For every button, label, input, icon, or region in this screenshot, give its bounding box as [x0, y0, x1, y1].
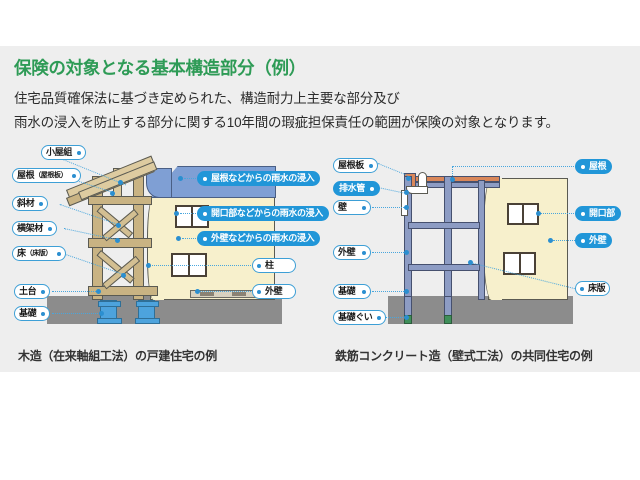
- leader-node: [406, 176, 411, 181]
- wall-cut-edge-rc: [483, 178, 502, 300]
- label-wall-rainwater[interactable]: 外壁などからの雨水の浸入: [197, 231, 320, 246]
- label-kiso[interactable]: 基礎: [14, 306, 50, 321]
- leader-node: [99, 311, 104, 316]
- label-gaiheki-left[interactable]: 外壁: [252, 284, 296, 299]
- post-column: [133, 172, 144, 300]
- leader-node: [536, 211, 541, 216]
- leader-node: [404, 289, 409, 294]
- label-yaneita[interactable]: 屋根板: [333, 158, 378, 173]
- leader-node: [110, 191, 115, 196]
- label-yuka[interactable]: 床（床版）: [12, 246, 66, 261]
- leader-line: [372, 207, 408, 208]
- leader-node: [116, 223, 121, 228]
- wall-cut-edge: [147, 196, 164, 300]
- label-kabe[interactable]: 壁: [333, 200, 371, 215]
- leader-line: [540, 213, 574, 214]
- label-yane[interactable]: 屋根（屋根板）: [12, 168, 81, 183]
- leader-line: [372, 291, 408, 292]
- label-roof-rainwater[interactable]: 屋根などからの雨水の浸入: [197, 171, 320, 186]
- page-title: 保険の対象となる基本構造部分（例）: [14, 55, 306, 80]
- leader-node: [404, 190, 409, 195]
- figure-page: 保険の対象となる基本構造部分（例） 住宅品質確保法に基づき定められた、構造耐力上…: [0, 0, 640, 480]
- window-upper-rc: [507, 203, 539, 225]
- label-dodai[interactable]: 土台: [14, 284, 50, 299]
- floor-slab: [408, 222, 480, 229]
- leader-node: [548, 238, 553, 243]
- leader-node: [195, 289, 200, 294]
- label-koyagumi[interactable]: 小屋組: [41, 145, 86, 160]
- leader-line: [52, 313, 102, 314]
- vent: [232, 292, 246, 296]
- lead-text-line-2: 雨水の浸入を防止する部分に関する10年間の瑕疵担保責任の範囲が保険の対象となりま…: [14, 111, 559, 131]
- foundation-pier: [138, 300, 155, 324]
- leader-node: [178, 176, 183, 181]
- leader-node: [450, 177, 455, 182]
- vent: [200, 292, 214, 296]
- horizontal-beam: [88, 238, 152, 248]
- label-opening-rainwater[interactable]: 開口部などからの雨水の浸入: [197, 206, 329, 221]
- label-haisuikan[interactable]: 排水管: [333, 181, 380, 196]
- label-gaiheki-right[interactable]: 外壁: [575, 233, 612, 248]
- label-oukazai[interactable]: 横架材: [12, 221, 57, 236]
- leader-line: [553, 240, 575, 241]
- label-kaikoubu[interactable]: 開口部: [575, 206, 621, 221]
- label-shouban[interactable]: 床版: [575, 281, 610, 296]
- leader-node: [176, 236, 181, 241]
- ground-right: [388, 296, 573, 324]
- caption-wood-house: 木造（在来軸組工法）の戸建住宅の例: [18, 347, 217, 364]
- label-kiso-rc[interactable]: 基礎: [333, 284, 371, 299]
- leader-node: [96, 289, 101, 294]
- label-yane-rc[interactable]: 屋根: [575, 159, 612, 174]
- rc-column: [444, 176, 452, 300]
- ground-left: [47, 296, 282, 324]
- leader-line: [452, 166, 574, 167]
- lead-text-line-1: 住宅品質確保法に基づき定められた、構造耐力上主要な部分及び: [14, 87, 400, 107]
- label-kisogui[interactable]: 基礎ぐい: [333, 310, 386, 325]
- leader-node: [468, 260, 473, 265]
- leader-line: [52, 291, 100, 292]
- label-hashira[interactable]: 柱: [252, 258, 296, 273]
- rc-column: [478, 180, 485, 300]
- leader-node: [121, 273, 126, 278]
- leader-node: [404, 205, 409, 210]
- leader-node: [115, 238, 120, 243]
- caption-rc-building: 鉄筋コンクリート造（壁式工法）の共同住宅の例: [335, 347, 592, 364]
- leader-line: [372, 252, 408, 253]
- drain-pipe-bend: [406, 186, 428, 194]
- leader-node: [404, 315, 409, 320]
- pile-tip: [444, 315, 452, 324]
- leader-line: [150, 265, 253, 266]
- leader-line: [182, 238, 198, 239]
- label-shazai[interactable]: 斜材: [12, 196, 48, 211]
- leader-node: [174, 211, 179, 216]
- floor-slab: [408, 264, 480, 271]
- leader-line: [200, 291, 253, 292]
- leader-node: [118, 180, 123, 185]
- leader-line: [180, 213, 198, 214]
- label-gaiheki-rc[interactable]: 外壁: [333, 245, 371, 260]
- horizontal-beam: [88, 196, 152, 205]
- leader-line: [184, 178, 198, 179]
- leader-node: [146, 263, 151, 268]
- leader-node: [404, 250, 409, 255]
